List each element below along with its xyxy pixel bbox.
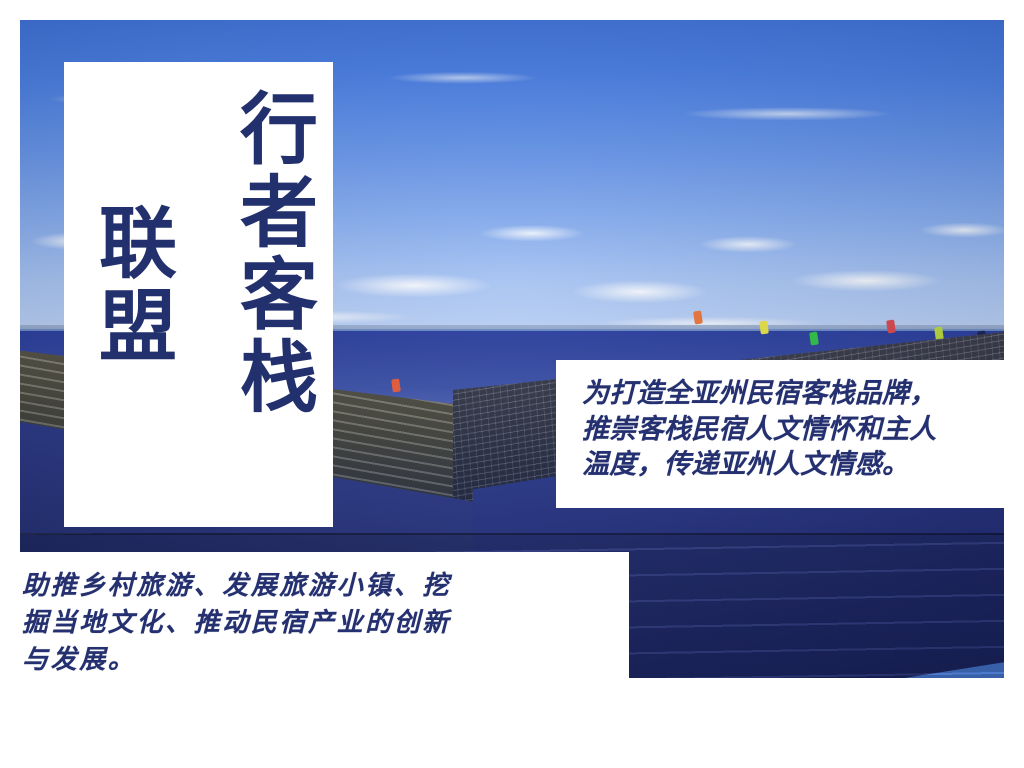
mission-line: 推崇客栈民宿人文情怀和主人 — [582, 412, 1006, 448]
vision-line: 与发展。 — [22, 642, 607, 679]
kite-yellow-icon — [759, 321, 769, 335]
title-columns: 行者客栈 联盟 — [64, 62, 333, 527]
title-column-left: 联盟 — [92, 202, 170, 367]
presentation-slide: 行者客栈 联盟 为打造全亚州民宿客栈品牌， 推崇客栈民宿人文情怀和主人 温度，传… — [0, 0, 1024, 768]
mission-statement-card: 为打造全亚州民宿客栈品牌， 推崇客栈民宿人文情怀和主人 温度，传递亚州人文情感。 — [556, 360, 1024, 508]
kite-red-icon — [886, 320, 896, 334]
kite-orange-icon — [693, 310, 703, 324]
brand-title-card: 行者客栈 联盟 — [64, 62, 333, 527]
vision-statement-card: 助推乡村旅游、发展旅游小镇、挖 掘当地文化、推动民宿产业的创新 与发展。 — [0, 552, 629, 678]
mission-line: 为打造全亚州民宿客栈品牌， — [582, 376, 1006, 412]
mission-line: 温度，传递亚州人文情感。 — [582, 447, 1006, 483]
vision-line: 掘当地文化、推动民宿产业的创新 — [22, 605, 607, 642]
vision-line: 助推乡村旅游、发展旅游小镇、挖 — [22, 568, 607, 605]
title-column-right: 行者客栈 — [233, 88, 311, 419]
